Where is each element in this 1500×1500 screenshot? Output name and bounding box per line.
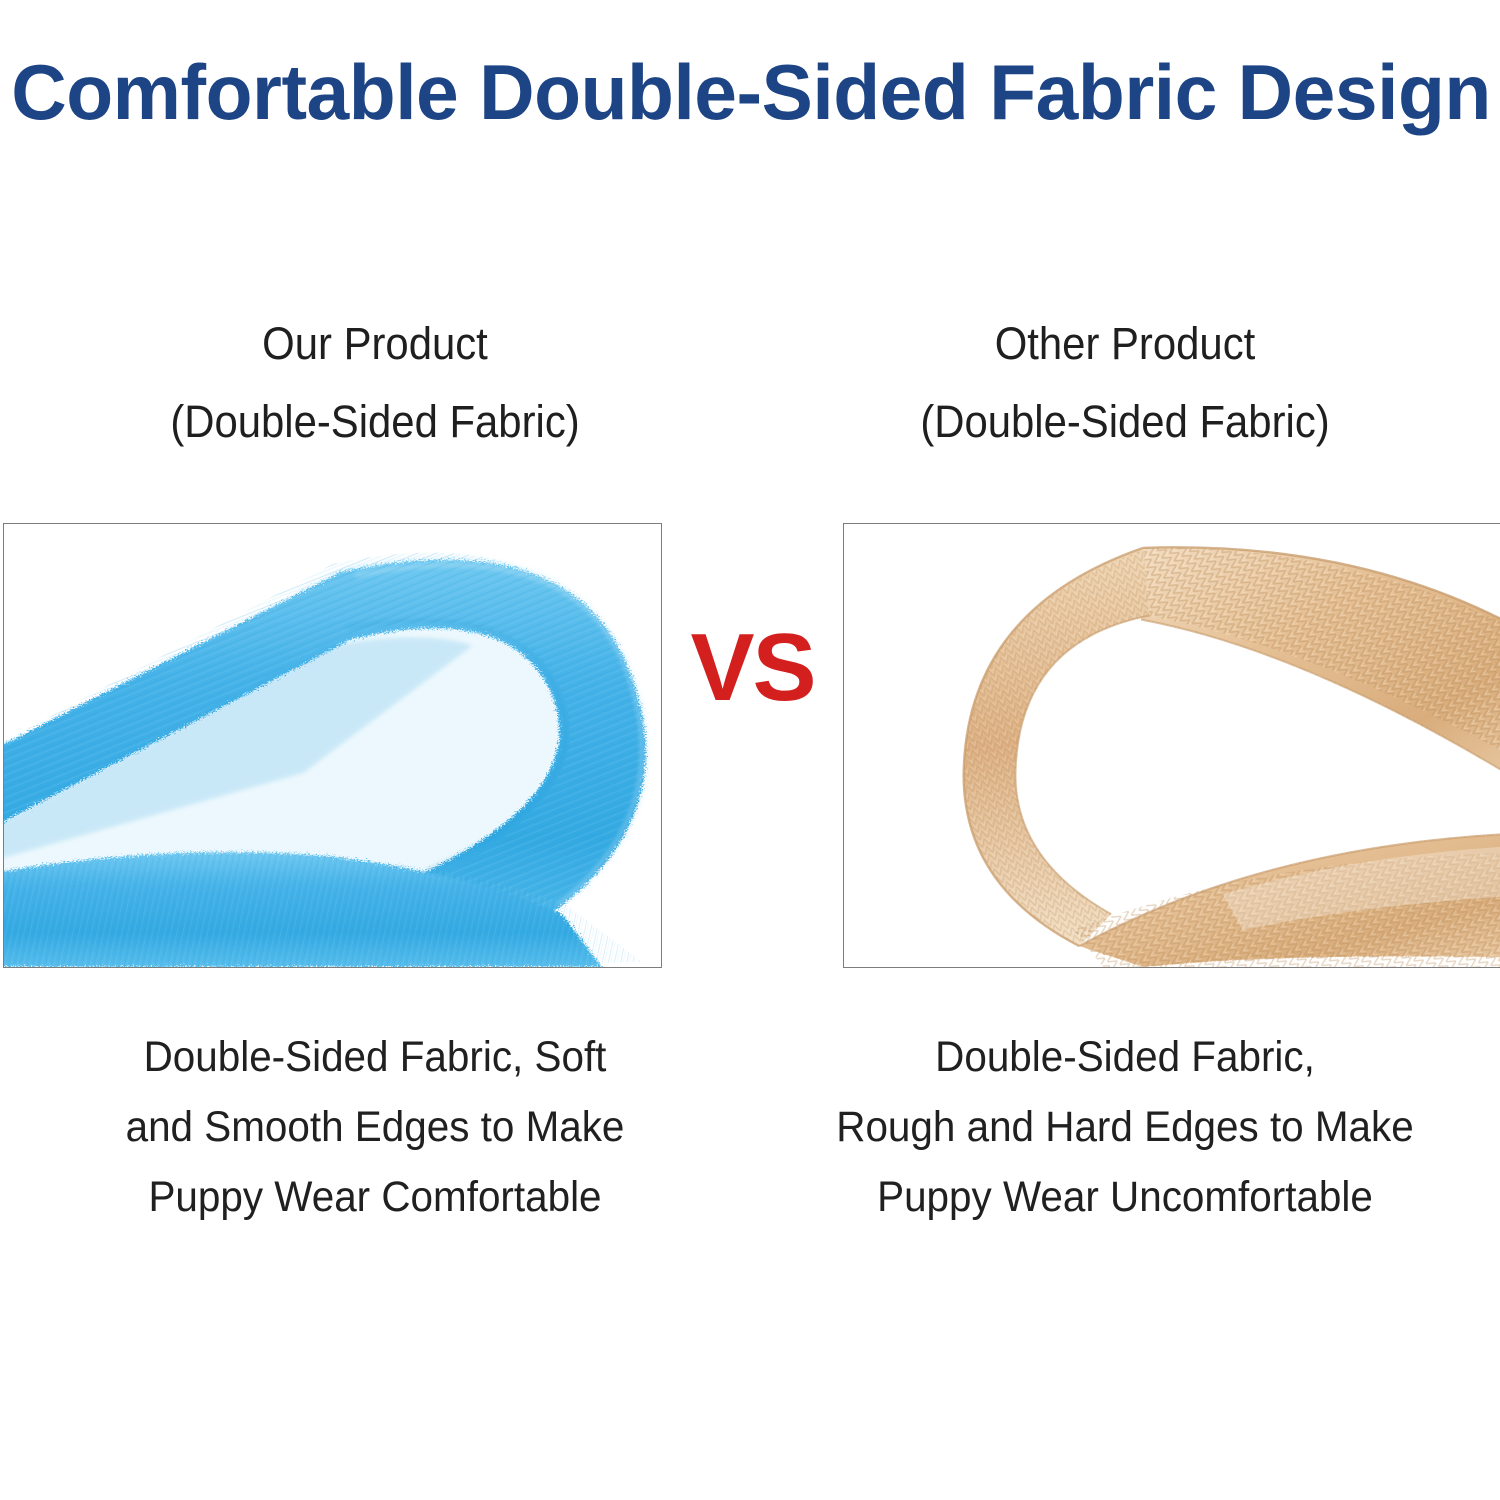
beige-woven-strap-loop-illustration <box>844 524 1500 967</box>
captions-row: Double-Sided Fabric, Soft and Smooth Edg… <box>0 1022 1500 1232</box>
our-product-heading-line1: Our Product <box>26 305 724 383</box>
our-product-image-panel <box>3 523 662 968</box>
other-product-heading-line1: Other Product <box>776 305 1474 383</box>
other-product-caption: Double-Sided Fabric, Rough and Hard Edge… <box>773 1022 1478 1232</box>
our-product-caption-line2: and Smooth Edges to Make <box>23 1092 728 1162</box>
column-header-our-product: Our Product (Double-Sided Fabric) <box>26 305 724 461</box>
vs-label: VS <box>662 615 843 721</box>
other-product-heading-line2: (Double-Sided Fabric) <box>776 383 1474 461</box>
column-header-other-product: Other Product (Double-Sided Fabric) <box>776 305 1474 461</box>
other-product-image-panel <box>843 523 1500 968</box>
other-product-caption-line2: Rough and Hard Edges to Make <box>773 1092 1478 1162</box>
our-product-caption-line1: Double-Sided Fabric, Soft <box>23 1022 728 1092</box>
column-headers: Our Product (Double-Sided Fabric) Other … <box>0 305 1500 461</box>
our-product-caption-line3: Puppy Wear Comfortable <box>23 1162 728 1232</box>
our-product-caption: Double-Sided Fabric, Soft and Smooth Edg… <box>23 1022 728 1232</box>
other-product-caption-line3: Puppy Wear Uncomfortable <box>773 1162 1478 1232</box>
blue-double-sided-velcro-strap-loop-illustration <box>4 524 661 967</box>
our-product-heading-line2: (Double-Sided Fabric) <box>26 383 724 461</box>
page-title: Comfortable Double-Sided Fabric Design <box>11 44 1489 140</box>
other-product-caption-line1: Double-Sided Fabric, <box>773 1022 1478 1092</box>
